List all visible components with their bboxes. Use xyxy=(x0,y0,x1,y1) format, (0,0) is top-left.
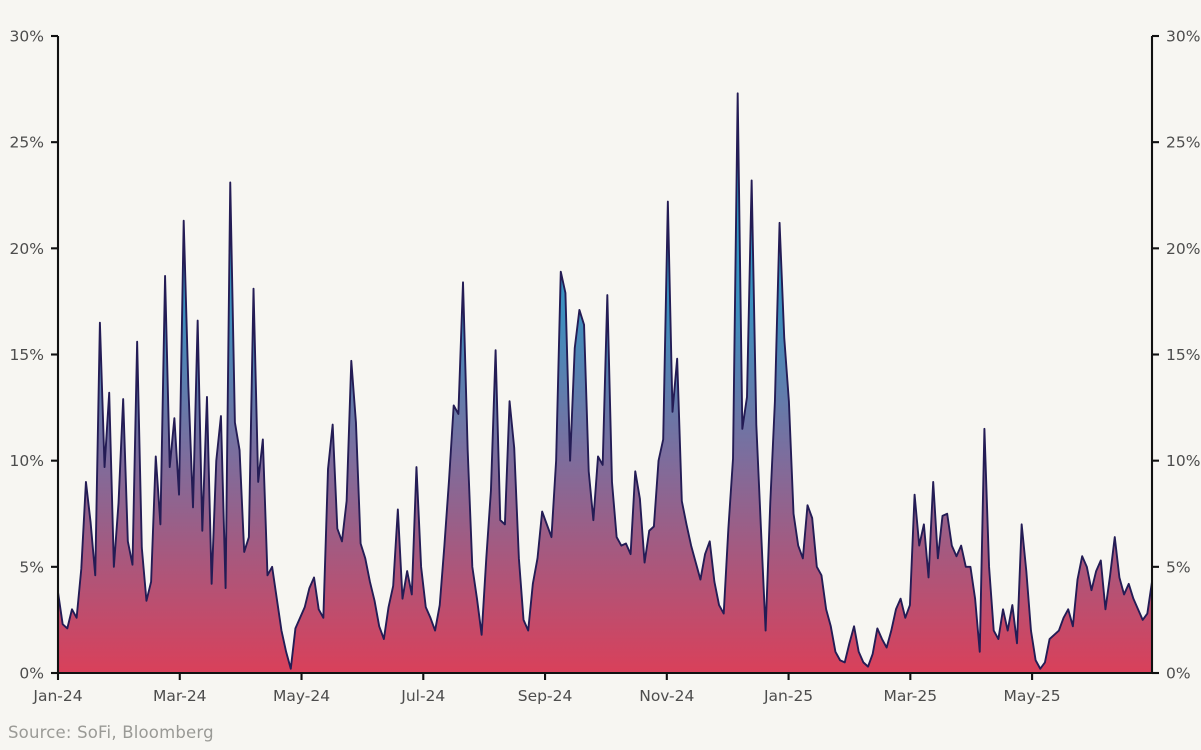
x-tick-label-4: Sep-24 xyxy=(518,687,573,705)
x-tick-label-0: Jan-24 xyxy=(32,687,82,705)
y-tick-label-left-3: 15% xyxy=(10,346,44,364)
y-tick-label-right-0: 0% xyxy=(1166,665,1191,683)
y-tick-label-left-5: 25% xyxy=(10,134,44,152)
y-tick-label-left-1: 5% xyxy=(19,558,44,576)
x-tick-label-2: May-24 xyxy=(273,687,330,705)
y-tick-label-right-3: 15% xyxy=(1166,346,1200,364)
x-tick-label-1: Mar-24 xyxy=(153,687,207,705)
y-tick-label-right-6: 30% xyxy=(1166,28,1200,46)
y-tick-label-right-4: 20% xyxy=(1166,240,1200,258)
y-tick-label-left-6: 30% xyxy=(10,28,44,46)
area-chart: 0%0%5%5%10%10%15%15%20%20%25%25%30%30%Ja… xyxy=(0,0,1201,750)
x-tick-label-5: Nov-24 xyxy=(639,687,694,705)
y-tick-label-right-2: 10% xyxy=(1166,452,1200,470)
x-tick-label-7: Mar-25 xyxy=(884,687,938,705)
y-tick-label-right-5: 25% xyxy=(1166,134,1200,152)
x-tick-label-8: May-25 xyxy=(1004,687,1061,705)
source-note: Source: SoFi, Bloomberg xyxy=(8,723,214,742)
y-tick-label-right-1: 5% xyxy=(1166,558,1191,576)
y-tick-label-left-4: 20% xyxy=(10,240,44,258)
plot-area xyxy=(58,93,1152,673)
x-tick-label-3: Jul-24 xyxy=(400,687,445,705)
y-tick-label-left-0: 0% xyxy=(19,665,44,683)
chart-page: 0%0%5%5%10%10%15%15%20%20%25%25%30%30%Ja… xyxy=(0,0,1201,750)
y-tick-label-left-2: 10% xyxy=(10,452,44,470)
x-tick-label-6: Jan-25 xyxy=(763,687,813,705)
